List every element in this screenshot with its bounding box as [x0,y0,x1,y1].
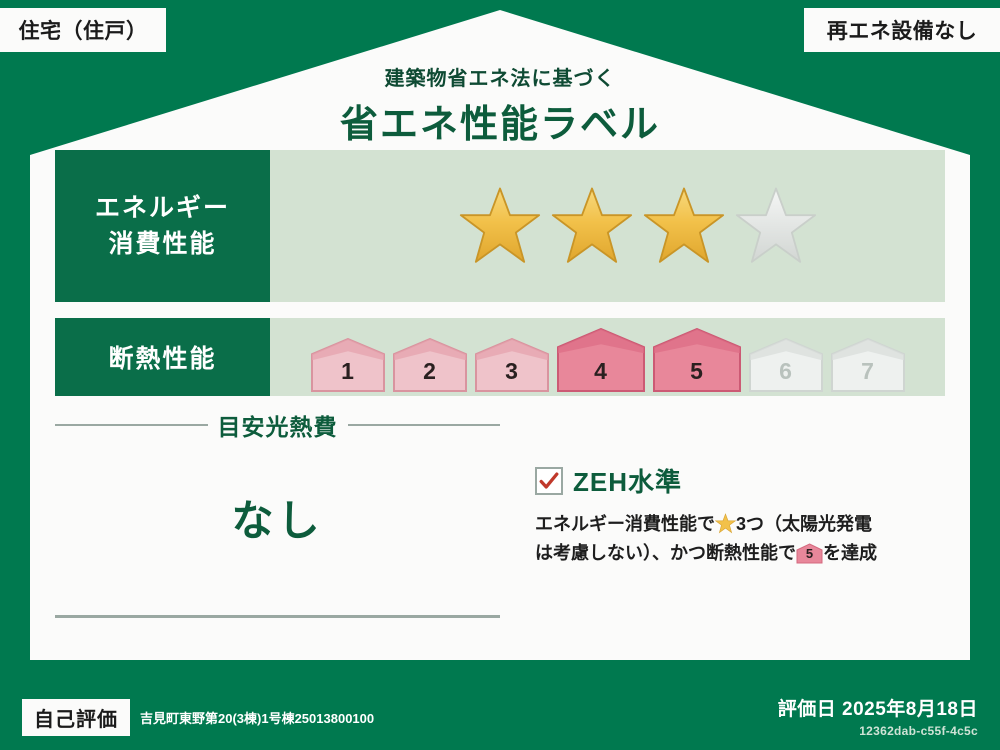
star-filled-icon [458,186,542,266]
insulation-level-1: 1 [309,322,387,392]
section-energy-consumption: エネルギー 消費性能 [55,150,945,302]
checked-checkbox-icon [535,467,563,495]
badge-dwelling-type: 住宅（住戸） [0,8,166,52]
zeh-header: ZEH水準 [535,462,950,499]
insulation-level-number: 3 [473,358,551,385]
footer-right-group: 評価日 2025年8月18日 12362dab-c55f-4c5c [778,694,978,738]
section-energy-label-line1: エネルギー [95,190,230,226]
document-hash: 12362dab-c55f-4c5c [778,724,978,738]
badge-renewable-equipment: 再エネ設備なし [804,8,1000,52]
insulation-level-number: 2 [391,358,469,385]
insulation-level-6: 6 [747,322,825,392]
zeh-desc-part2: は考慮しない）、かつ断熱性能で [535,543,796,563]
evaluation-date-value: 2025年8月18日 [842,699,978,720]
zeh-description: エネルギー消費性能で 3つ（太陽光発電 は考慮しない）、かつ断熱性能で 5 を達… [535,510,950,568]
insulation-level-number: 4 [555,358,647,385]
page-title: 省エネ性能ラベル [0,93,1000,148]
cost-heading-label: 目安光熱費 [218,408,338,442]
insulation-level-number: 5 [651,358,743,385]
evaluation-date: 評価日 2025年8月18日 [778,694,978,721]
energy-star-panel [270,150,945,302]
insulation-level-3: 3 [473,322,551,392]
insulation-level-number: 1 [309,358,387,385]
star-empty-icon [734,186,818,266]
energy-performance-label: 住宅（住戸） 再エネ設備なし 建築物省エネ法に基づく 省エネ性能ラベル エネルギ… [0,0,1000,750]
section-insulation-label: 断熱性能 [55,318,270,396]
star-rating [458,186,818,266]
cost-heading-row: 目安光熱費 [55,408,500,442]
insulation-level-number: 6 [747,358,825,385]
star-filled-icon [550,186,634,266]
insulation-level-number: 7 [829,358,907,385]
title-subtitle: 建築物省エネ法に基づく [0,62,1000,91]
zeh-desc-part3: を達成 [823,543,877,563]
self-evaluation-badge: 自己評価 [22,699,130,736]
zeh-desc-part1: エネルギー消費性能で [535,514,715,534]
star-filled-icon [642,186,726,266]
badge-dwelling-label: 住宅（住戸） [19,15,148,45]
insulation-level-5: 5 [651,322,743,392]
insulation-level-7: 7 [829,322,907,392]
property-address: 吉見町東野第20(3棟)1号棟25013800100 [140,708,374,727]
insulation-level-panel: 1234567 [270,318,945,396]
zeh-title: ZEH水準 [573,462,682,499]
zeh-standard-block: ZEH水準 エネルギー消費性能で 3つ（太陽光発電 は考慮しない）、かつ断熱性能… [535,462,950,568]
insulation-level-4: 4 [555,322,647,392]
inline-house-badge-icon: 5 [796,543,823,564]
section-insulation-performance: 断熱性能 1234567 [55,318,945,396]
inline-star-icon [715,513,736,534]
insulation-level-2: 2 [391,322,469,392]
cost-rule-right [348,424,501,426]
footer-left-group: 自己評価 吉見町東野第20(3棟)1号棟25013800100 [22,699,374,736]
cost-rule-left [55,424,208,426]
section-insulation-label-text: 断熱性能 [108,339,216,375]
evaluation-date-label: 評価日 [778,699,837,720]
zeh-desc-star-count: 3つ（太陽光発電 [736,514,872,534]
cost-value: なし [55,487,500,548]
section-energy-label-line2: 消費性能 [108,226,216,262]
inline-house-badge-number: 5 [796,543,823,564]
section-energy-label: エネルギー 消費性能 [55,150,270,302]
cost-bottom-divider [55,615,500,618]
badge-renewable-label: 再エネ設備なし [827,15,978,45]
